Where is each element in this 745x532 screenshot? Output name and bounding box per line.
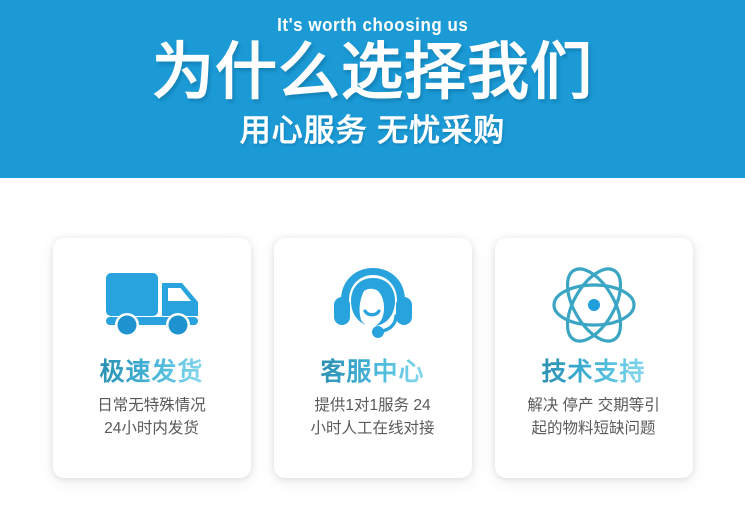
feature-card-customer-service[interactable]: 客服中心 提供1对1服务 24 小时人工在线对接 [274, 238, 472, 478]
feature-card-description: 提供1对1服务 24 小时人工在线对接 [285, 394, 461, 440]
promo-why-choose-us-page: It's worth choosing us 为什么选择我们 用心服务 无忧采购 [0, 0, 745, 532]
feature-card-description-line-1: 提供1对1服务 24 [285, 394, 461, 417]
feature-card-title: 技术支持 [541, 356, 645, 388]
hero-headline-chinese: 为什么选择我们 [152, 38, 593, 108]
headset-support-agent-icon [319, 262, 427, 348]
hero-subheadline-chinese: 用心服务 无忧采购 [240, 112, 506, 150]
feature-card-description: 解决 停产 交期等引 起的物料短缺问题 [506, 394, 682, 440]
feature-card-description-line-2: 24小时内发货 [64, 417, 240, 440]
feature-card-description: 日常无特殊情况 24小时内发货 [64, 394, 240, 440]
feature-card-fast-shipping[interactable]: 极速发货 日常无特殊情况 24小时内发货 [53, 238, 251, 478]
hero-banner: It's worth choosing us 为什么选择我们 用心服务 无忧采购 [0, 0, 745, 178]
atom-icon [540, 262, 648, 348]
feature-card-technical-support[interactable]: 技术支持 解决 停产 交期等引 起的物料短缺问题 [495, 238, 693, 478]
feature-card-description-line-1: 解决 停产 交期等引 [506, 394, 682, 417]
delivery-truck-icon [98, 262, 206, 348]
feature-card-title: 极速发货 [99, 356, 203, 388]
feature-card-description-line-2: 小时人工在线对接 [285, 417, 461, 440]
feature-card-list: 极速发货 日常无特殊情况 24小时内发货 客服中心 [0, 178, 745, 532]
hero-banner-content: It's worth choosing us 为什么选择我们 用心服务 无忧采购 [0, 0, 745, 178]
hero-tagline-english: It's worth choosing us [277, 14, 468, 36]
feature-card-description-line-2: 起的物料短缺问题 [506, 417, 682, 440]
feature-card-description-line-1: 日常无特殊情况 [64, 394, 240, 417]
feature-card-title: 客服中心 [320, 356, 424, 388]
